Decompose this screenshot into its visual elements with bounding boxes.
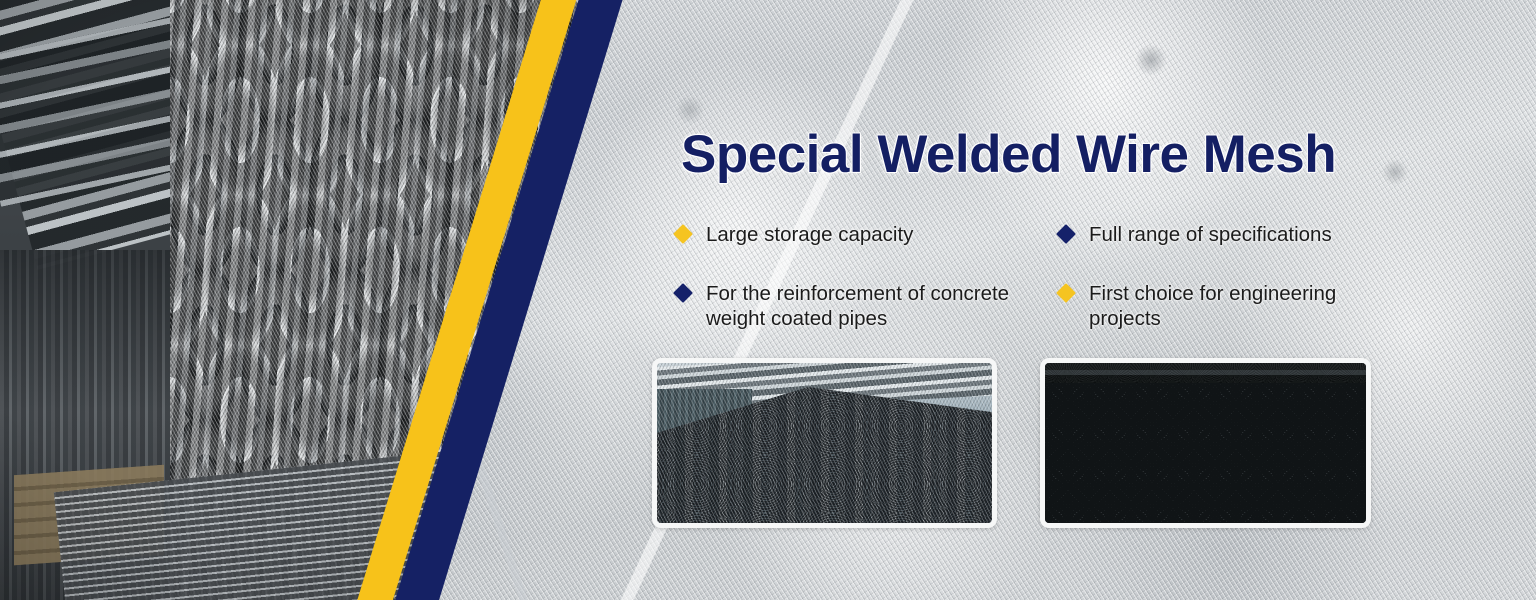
diamond-bullet-icon xyxy=(673,224,693,244)
feature-text: For the reinforcement of concrete weight… xyxy=(706,282,1009,330)
feature-item-reinforcement-coated-pipes: For the reinforcement of concrete weight… xyxy=(672,281,1017,331)
feature-text: Large storage capacity xyxy=(706,223,913,246)
feature-text: First choice for engineering projects xyxy=(1089,282,1336,330)
feature-item-full-range-specifications: Full range of specifications xyxy=(1055,222,1375,247)
feature-item-first-choice-engineering: First choice for engineering projects xyxy=(1055,281,1375,331)
thumbnail-roll-ends-grid[interactable] xyxy=(1040,358,1371,528)
feature-item-large-storage-capacity: Large storage capacity xyxy=(672,222,1017,247)
thumb-roll-cores-b xyxy=(1045,383,1366,528)
feature-text: Full range of specifications xyxy=(1089,223,1332,246)
diamond-bullet-icon xyxy=(1056,224,1076,244)
promo-banner: Special Welded Wire Mesh Large storage c… xyxy=(0,0,1536,600)
diamond-bullet-icon xyxy=(673,283,693,303)
banner-title: Special Welded Wire Mesh xyxy=(681,126,1336,184)
thumbnail-warehouse-stacked-rolls[interactable] xyxy=(652,358,997,528)
feature-column-right: Full range of specifications First choic… xyxy=(1055,222,1375,365)
diamond-bullet-icon xyxy=(1056,283,1076,303)
thumb-mesh-texture xyxy=(657,363,992,523)
banner-content: Special Welded Wire Mesh Large storage c… xyxy=(0,0,1536,600)
feature-column-left: Large storage capacity For the reinforce… xyxy=(672,222,1017,365)
